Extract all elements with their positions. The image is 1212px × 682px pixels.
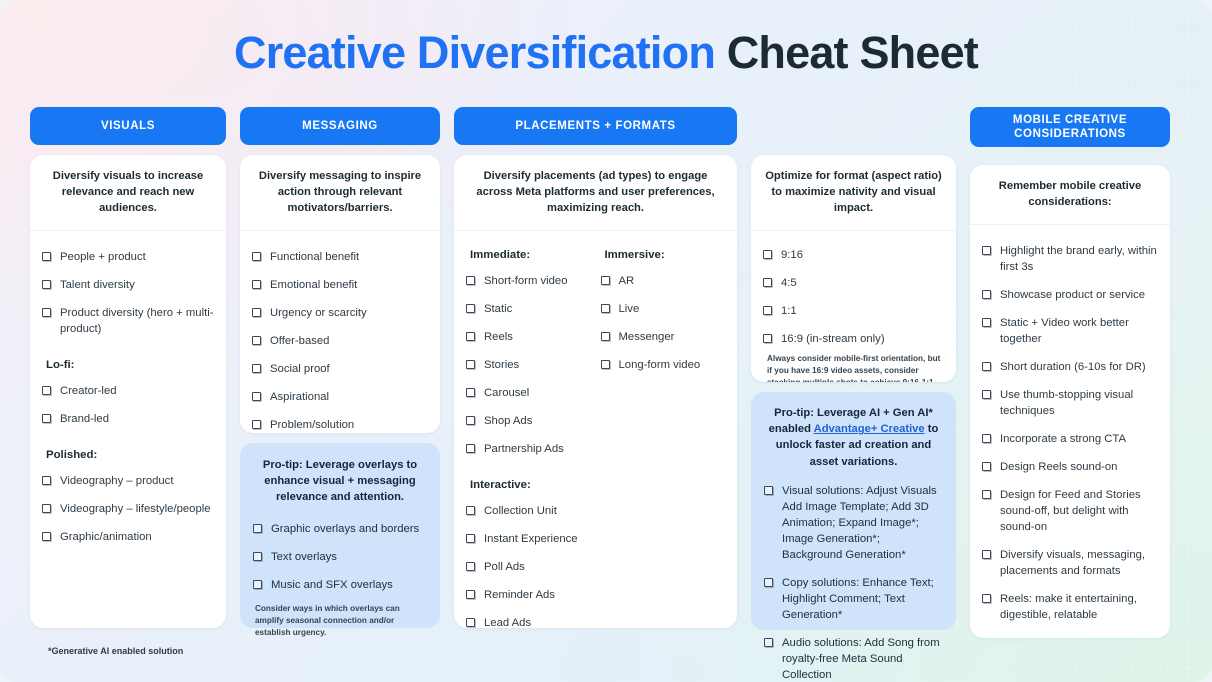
column-placements: PLACEMENTS + FORMATS Diversify placement… — [454, 107, 737, 628]
card-placements: Diversify placements (ad types) to engag… — [454, 155, 737, 628]
card-aspect-ratios: Optimize for format (aspect ratio) to ma… — [751, 155, 956, 382]
tab-placements-formats[interactable]: PLACEMENTS + FORMATS — [454, 107, 737, 145]
column-grid: VISUALS Diversify visuals to increase re… — [30, 107, 1182, 638]
list-item-label: Incorporate a strong CTA — [1000, 431, 1126, 447]
checkbox-icon[interactable] — [252, 392, 261, 401]
list-item-label: Highlight the brand early, within first … — [1000, 243, 1158, 275]
card-mobile-body: Highlight the brand early, within first … — [970, 225, 1170, 638]
checklist-immersive: AR Live Messenger Long-form video — [601, 273, 726, 373]
list-item[interactable]: Shop Ads — [466, 413, 591, 429]
card-messaging: Diversify messaging to inspire action th… — [240, 155, 440, 433]
group-label-immersive: Immersive: — [605, 249, 726, 261]
card-mobile-considerations: Remember mobile creative considerations:… — [970, 165, 1170, 638]
placements-immersive-group: Immersive: AR Live Messenger Long-form v… — [601, 249, 726, 457]
list-item-label: Stories — [484, 357, 519, 373]
list-item[interactable]: Poll Ads — [466, 559, 725, 575]
checkbox-icon[interactable] — [466, 618, 475, 627]
list-item[interactable]: 16:9 (in-stream only) — [763, 331, 944, 347]
list-item[interactable]: Reels — [466, 329, 591, 345]
page-title: Creative Diversification Cheat Sheet — [0, 27, 1212, 79]
list-item-label: Text overlays — [271, 549, 337, 565]
list-item-label: Audio solutions: Add Song from royalty-f… — [782, 635, 943, 682]
list-item[interactable]: 9:16 — [763, 247, 944, 263]
list-item[interactable]: Social proof — [252, 361, 428, 377]
list-item[interactable]: Partnership Ads — [466, 441, 591, 457]
list-item-label: Messenger — [619, 329, 675, 345]
list-item-label: Poll Ads — [484, 559, 525, 575]
checkbox-icon[interactable] — [252, 420, 261, 429]
list-item[interactable]: Music and SFX overlays — [253, 577, 427, 593]
tip-ai-title: Pro-tip: Leverage AI + Gen AI* enabled A… — [764, 405, 943, 470]
list-item-label: Talent diversity — [60, 277, 135, 293]
list-item-label: Instant Experience — [484, 531, 578, 547]
card-mobile-heading: Remember mobile creative considerations: — [970, 165, 1170, 225]
card-visuals: Diversify visuals to increase relevance … — [30, 155, 226, 628]
list-item-label: Long-form video — [619, 357, 701, 373]
list-item-label: Shop Ads — [484, 413, 532, 429]
checkbox-icon[interactable] — [601, 360, 610, 369]
list-item-label: 9:16 — [781, 247, 803, 263]
list-item[interactable]: Problem/solution — [252, 417, 428, 433]
list-item[interactable]: Videography – product — [42, 473, 214, 489]
checkbox-icon[interactable] — [252, 364, 261, 373]
list-item-label: Diversify visuals, messaging, placements… — [1000, 547, 1158, 579]
list-item-label: Use thumb-stopping visual techniques — [1000, 387, 1158, 419]
list-item[interactable]: Text overlays — [253, 549, 427, 565]
list-item-label: Partnership Ads — [484, 441, 564, 457]
checkbox-icon[interactable] — [982, 550, 991, 559]
list-item[interactable]: Urgency or scarcity — [252, 305, 428, 321]
checklist-overlays: Graphic overlays and borders Text overla… — [253, 521, 427, 593]
checkbox-icon[interactable] — [763, 306, 772, 315]
column-visuals: VISUALS Diversify visuals to increase re… — [30, 107, 226, 628]
list-item[interactable]: Aspirational — [252, 389, 428, 405]
list-item[interactable]: Live — [601, 301, 726, 317]
list-item-label: Carousel — [484, 385, 529, 401]
card-aspect-ratios-heading: Optimize for format (aspect ratio) to ma… — [751, 155, 956, 231]
tip-card-overlays: Pro-tip: Leverage overlays to enhance vi… — [240, 443, 440, 628]
checkbox-icon[interactable] — [466, 506, 475, 515]
page-title-rest: Cheat Sheet — [727, 27, 978, 78]
list-item[interactable]: Long-form video — [601, 357, 726, 373]
list-item[interactable]: Carousel — [466, 385, 591, 401]
checkbox-icon[interactable] — [466, 360, 475, 369]
checkbox-icon[interactable] — [764, 578, 773, 587]
list-item[interactable]: Use thumb-stopping visual techniques — [982, 387, 1158, 419]
list-item[interactable]: Highlight the brand early, within first … — [982, 243, 1158, 275]
list-item[interactable]: Design for Feed and Stories sound-off, b… — [982, 487, 1158, 535]
list-item-label: Reels: make it entertaining, digestible,… — [1000, 591, 1158, 623]
list-item[interactable]: Static — [466, 301, 591, 317]
list-item-label: Short-form video — [484, 273, 568, 289]
checkbox-icon[interactable] — [763, 334, 772, 343]
list-item[interactable]: Emotional benefit — [252, 277, 428, 293]
list-item-label: Design for Feed and Stories sound-off, b… — [1000, 487, 1158, 535]
checklist-mobile-considerations: Highlight the brand early, within first … — [982, 243, 1158, 638]
tip-card-ai: Pro-tip: Leverage AI + Gen AI* enabled A… — [751, 392, 956, 630]
list-item-label: Static + Video work better together — [1000, 315, 1158, 347]
checkbox-icon[interactable] — [982, 434, 991, 443]
list-item[interactable]: Collection Unit — [466, 503, 725, 519]
list-item[interactable]: Lead Ads — [466, 615, 725, 628]
group-label-lofi: Lo-fi: — [46, 359, 214, 371]
tab-mobile-creative-considerations[interactable]: MOBILE CREATIVE CONSIDERATIONS — [970, 107, 1170, 147]
checkbox-icon[interactable] — [253, 580, 262, 589]
checkbox-icon[interactable] — [253, 524, 262, 533]
card-placements-heading: Diversify placements (ad types) to engag… — [454, 155, 737, 231]
card-visuals-heading: Diversify visuals to increase relevance … — [30, 155, 226, 231]
list-item[interactable]: Static + Video work better together — [982, 315, 1158, 347]
checkbox-icon[interactable] — [763, 250, 772, 259]
checkbox-icon[interactable] — [42, 386, 51, 395]
checkbox-icon[interactable] — [601, 276, 610, 285]
list-item-label: Graphic/animation — [60, 529, 152, 545]
list-item-label: Product diversity (hero + multi-product) — [60, 305, 214, 337]
checklist-immediate: Short-form video Static Reels Stories Ca… — [466, 273, 591, 457]
checkbox-icon[interactable] — [252, 252, 261, 261]
checkbox-icon[interactable] — [763, 278, 772, 287]
list-item[interactable]: People + product — [42, 249, 214, 265]
group-label-polished: Polished: — [46, 449, 214, 461]
checkbox-icon[interactable] — [982, 290, 991, 299]
list-item-label: Visual solutions: Adjust Visuals Add Ima… — [782, 483, 943, 563]
checkbox-icon[interactable] — [764, 486, 773, 495]
list-item-label: Copy solutions: Enhance Text; Highlight … — [782, 575, 943, 623]
list-item-label: Brand-led — [60, 411, 109, 427]
checklist-aspect-ratios: 9:16 4:5 1:1 16:9 (in-stream only) — [763, 247, 944, 347]
list-item[interactable]: Messenger — [601, 329, 726, 345]
list-item[interactable]: Copy solutions: Enhance Text; Highlight … — [764, 575, 943, 623]
list-item[interactable]: Offer-based — [252, 333, 428, 349]
checkbox-icon[interactable] — [466, 416, 475, 425]
list-item-label: Creator-led — [60, 383, 117, 399]
list-item[interactable]: Videography – lifestyle/people — [42, 501, 214, 517]
list-item-label: Partnership Ads: empower the creator; te… — [1000, 635, 1158, 638]
list-item-label: Aspirational — [270, 389, 329, 405]
checkbox-icon[interactable] — [42, 308, 51, 317]
card-placements-body: Immediate: Short-form video Static Reels… — [454, 231, 737, 628]
list-item-label: Offer-based — [270, 333, 329, 349]
checkbox-icon[interactable] — [252, 308, 261, 317]
list-item[interactable]: Reels: make it entertaining, digestible,… — [982, 591, 1158, 623]
list-item-label: Emotional benefit — [270, 277, 357, 293]
list-item-label: Graphic overlays and borders — [271, 521, 419, 537]
tab-visuals[interactable]: VISUALS — [30, 107, 226, 145]
list-item-label: Reminder Ads — [484, 587, 555, 603]
tab-messaging[interactable]: MESSAGING — [240, 107, 440, 145]
list-item[interactable]: Short-form video — [466, 273, 591, 289]
checkbox-icon[interactable] — [466, 562, 475, 571]
checkbox-icon[interactable] — [466, 304, 475, 313]
list-item-label: Music and SFX overlays — [271, 577, 393, 593]
checkbox-icon[interactable] — [42, 280, 51, 289]
footnote-generative-ai: *Generative AI enabled solution — [48, 646, 183, 656]
list-item[interactable]: Creator-led — [42, 383, 214, 399]
card-messaging-body: Functional benefit Emotional benefit Urg… — [240, 231, 440, 433]
column-messaging: MESSAGING Diversify messaging to inspire… — [240, 107, 440, 628]
list-item[interactable]: Short duration (6-10s for DR) — [982, 359, 1158, 375]
list-item[interactable]: 1:1 — [763, 303, 944, 319]
list-item-label: Social proof — [270, 361, 330, 377]
checkbox-icon[interactable] — [764, 638, 773, 647]
checkbox-icon[interactable] — [982, 594, 991, 603]
column-mobile-considerations: MOBILE CREATIVE CONSIDERATIONS Remember … — [970, 107, 1170, 638]
checkbox-icon[interactable] — [982, 390, 991, 399]
list-item-label: Showcase product or service — [1000, 287, 1145, 303]
placements-immediate-group: Immediate: Short-form video Static Reels… — [466, 249, 591, 457]
checkbox-icon[interactable] — [982, 490, 991, 499]
checklist-visuals-polished: Videography – product Videography – life… — [42, 473, 214, 545]
list-item[interactable]: Talent diversity — [42, 277, 214, 293]
list-item-label: Functional benefit — [270, 249, 359, 265]
checkbox-icon[interactable] — [252, 280, 261, 289]
list-item[interactable]: Product diversity (hero + multi-product) — [42, 305, 214, 337]
checkbox-icon[interactable] — [982, 246, 991, 255]
spacer — [42, 337, 214, 359]
checklist-visuals-lofi: Creator-led Brand-led — [42, 383, 214, 427]
checkbox-icon[interactable] — [601, 332, 610, 341]
card-messaging-heading: Diversify messaging to inspire action th… — [240, 155, 440, 231]
group-label-interactive: Interactive: — [470, 479, 725, 491]
list-item[interactable]: Brand-led — [42, 411, 214, 427]
checkbox-icon[interactable] — [466, 590, 475, 599]
advantage-plus-creative-link[interactable]: Advantage+ Creative — [814, 423, 925, 435]
list-item[interactable]: Stories — [466, 357, 591, 373]
checkbox-icon[interactable] — [982, 362, 991, 371]
checklist-messaging: Functional benefit Emotional benefit Urg… — [252, 249, 428, 433]
list-item-label: Videography – product — [60, 473, 173, 489]
checkbox-icon[interactable] — [42, 252, 51, 261]
card-visuals-body: People + product Talent diversity Produc… — [30, 231, 226, 559]
page-title-highlight: Creative Diversification — [234, 27, 715, 78]
checkbox-icon[interactable] — [42, 504, 51, 513]
list-item-label: Live — [619, 301, 640, 317]
list-item[interactable]: AR — [601, 273, 726, 289]
list-item[interactable]: 4:5 — [763, 275, 944, 291]
list-item-label: Videography – lifestyle/people — [60, 501, 211, 517]
list-item[interactable]: Audio solutions: Add Song from royalty-f… — [764, 635, 943, 682]
list-item-label: AR — [619, 273, 635, 289]
list-item-label: Reels — [484, 329, 513, 345]
list-item[interactable]: Reminder Ads — [466, 587, 725, 603]
list-item-label: Static — [484, 301, 512, 317]
checkbox-icon[interactable] — [601, 304, 610, 313]
list-item[interactable]: Functional benefit — [252, 249, 428, 265]
list-item-label: Problem/solution — [270, 417, 354, 433]
aspect-ratios-note: Always consider mobile-first orientation… — [763, 353, 944, 382]
checkbox-icon[interactable] — [982, 318, 991, 327]
checkbox-icon[interactable] — [466, 444, 475, 453]
placements-two-columns: Immediate: Short-form video Static Reels… — [466, 249, 725, 457]
tip-overlays-note: Consider ways in which overlays can ampl… — [253, 603, 427, 640]
list-item[interactable]: Graphic overlays and borders — [253, 521, 427, 537]
list-item-label: Design Reels sound-on — [1000, 459, 1117, 475]
list-item[interactable]: Incorporate a strong CTA — [982, 431, 1158, 447]
checkbox-icon[interactable] — [466, 276, 475, 285]
list-item[interactable]: Instant Experience — [466, 531, 725, 547]
card-aspect-ratios-body: 9:16 4:5 1:1 16:9 (in-stream only) Alway… — [751, 231, 956, 382]
list-item[interactable]: Design Reels sound-on — [982, 459, 1158, 475]
spacer — [42, 427, 214, 449]
list-item[interactable]: Visual solutions: Adjust Visuals Add Ima… — [764, 483, 943, 563]
checkbox-icon[interactable] — [42, 414, 51, 423]
list-item-label: Short duration (6-10s for DR) — [1000, 359, 1146, 375]
checkbox-icon[interactable] — [253, 552, 262, 561]
list-item-label: 1:1 — [781, 303, 797, 319]
checkbox-icon[interactable] — [42, 532, 51, 541]
tip-overlays-title: Pro-tip: Leverage overlays to enhance vi… — [253, 457, 427, 506]
checkbox-icon[interactable] — [252, 336, 261, 345]
spacer — [466, 457, 725, 479]
list-item[interactable]: Diversify visuals, messaging, placements… — [982, 547, 1158, 579]
checkbox-icon[interactable] — [42, 476, 51, 485]
cheat-sheet-canvas: Creative Diversification Cheat Sheet VIS… — [0, 0, 1212, 682]
checklist-interactive: Collection Unit Instant Experience Poll … — [466, 503, 725, 628]
checkbox-icon[interactable] — [466, 332, 475, 341]
checklist-ai-solutions: Visual solutions: Adjust Visuals Add Ima… — [764, 483, 943, 682]
checkbox-icon[interactable] — [982, 462, 991, 471]
list-item[interactable]: Graphic/animation — [42, 529, 214, 545]
list-item-label: 16:9 (in-stream only) — [781, 331, 885, 347]
checklist-visuals-primary: People + product Talent diversity Produc… — [42, 249, 214, 337]
list-item-label: 4:5 — [781, 275, 797, 291]
list-item[interactable]: Showcase product or service — [982, 287, 1158, 303]
checkbox-icon[interactable] — [466, 388, 475, 397]
list-item-label: Urgency or scarcity — [270, 305, 367, 321]
list-item-label: Lead Ads — [484, 615, 531, 628]
group-label-immediate: Immediate: — [470, 249, 591, 261]
checkbox-icon[interactable] — [466, 534, 475, 543]
column-formats: Optimize for format (aspect ratio) to ma… — [751, 155, 956, 630]
list-item-label: People + product — [60, 249, 146, 265]
list-item[interactable]: Partnership Ads: empower the creator; te… — [982, 635, 1158, 638]
list-item-label: Collection Unit — [484, 503, 557, 519]
